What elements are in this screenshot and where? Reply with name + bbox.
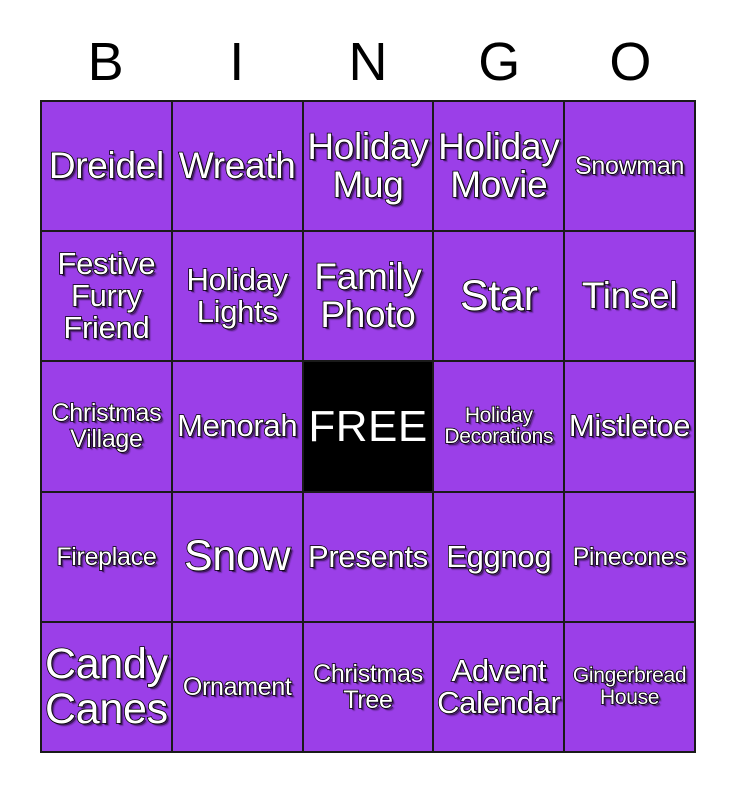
bingo-header-letter-g: G	[434, 35, 565, 89]
bingo-cell[interactable]: Holiday Lights	[173, 232, 302, 360]
bingo-cell[interactable]: Star	[434, 232, 563, 360]
bingo-cell-label: Gingerbread House	[573, 665, 686, 709]
bingo-cell-label: Advent Calendar	[437, 655, 560, 719]
bingo-cell-label: Candy Canes	[45, 642, 168, 731]
bingo-cell-label: Holiday Mug	[307, 128, 428, 205]
bingo-header-letter-i: I	[171, 35, 302, 89]
bingo-cell-label: Wreath	[179, 147, 296, 185]
bingo-cell[interactable]: Snow	[173, 493, 302, 621]
bingo-cell[interactable]: Fireplace	[42, 493, 171, 621]
bingo-cell[interactable]: Snowman	[565, 102, 694, 230]
bingo-cell[interactable]: Gingerbread House	[565, 623, 694, 751]
bingo-card: BINGO DreidelWreathHoliday MugHoliday Mo…	[0, 0, 736, 800]
bingo-header-letter-n: N	[302, 35, 433, 89]
bingo-header-row: BINGO	[40, 28, 696, 96]
bingo-cell[interactable]: Christmas Tree	[304, 623, 433, 751]
bingo-cell[interactable]: Holiday Movie	[434, 102, 563, 230]
bingo-cell-label: Snow	[184, 534, 290, 579]
bingo-cell-label: Presents	[308, 541, 428, 573]
bingo-cell[interactable]: Pinecones	[565, 493, 694, 621]
bingo-cell[interactable]: Festive Furry Friend	[42, 232, 171, 360]
bingo-cell[interactable]: Candy Canes	[42, 623, 171, 751]
bingo-cell-label: Star	[460, 274, 538, 319]
bingo-cell-label: Snowman	[575, 153, 684, 179]
bingo-cell[interactable]: Presents	[304, 493, 433, 621]
bingo-free-space[interactable]: FREE	[304, 362, 433, 490]
bingo-cell[interactable]: Dreidel	[42, 102, 171, 230]
bingo-header-letter-o: O	[565, 35, 696, 89]
bingo-cell-label: Dreidel	[49, 147, 164, 185]
bingo-cell[interactable]: Eggnog	[434, 493, 563, 621]
bingo-cell-label: Holiday Movie	[438, 128, 559, 205]
bingo-cell[interactable]: Christmas Village	[42, 362, 171, 490]
bingo-header-letter-b: B	[40, 35, 171, 89]
bingo-cell-label: Christmas Village	[51, 400, 161, 452]
bingo-grid: DreidelWreathHoliday MugHoliday MovieSno…	[40, 100, 696, 753]
bingo-cell[interactable]: Tinsel	[565, 232, 694, 360]
bingo-cell-label: FREE	[308, 404, 427, 450]
bingo-cell[interactable]: Menorah	[173, 362, 302, 490]
bingo-cell[interactable]: Ornament	[173, 623, 302, 751]
bingo-cell-label: Festive Furry Friend	[57, 248, 155, 345]
bingo-cell-label: Mistletoe	[569, 410, 690, 442]
bingo-cell[interactable]: Family Photo	[304, 232, 433, 360]
bingo-cell[interactable]: Wreath	[173, 102, 302, 230]
bingo-cell-label: Fireplace	[56, 544, 156, 570]
bingo-cell-label: Pinecones	[573, 544, 687, 570]
bingo-cell[interactable]: Holiday Decorations	[434, 362, 563, 490]
bingo-cell-label: Family Photo	[314, 258, 421, 335]
bingo-cell[interactable]: Holiday Mug	[304, 102, 433, 230]
bingo-cell[interactable]: Mistletoe	[565, 362, 694, 490]
bingo-cell-label: Menorah	[177, 410, 297, 442]
bingo-cell-label: Tinsel	[582, 277, 678, 315]
bingo-cell-label: Ornament	[183, 674, 292, 700]
bingo-cell-label: Holiday Decorations	[444, 405, 553, 449]
bingo-cell[interactable]: Advent Calendar	[434, 623, 563, 751]
bingo-cell-label: Holiday Lights	[187, 264, 288, 328]
bingo-cell-label: Christmas Tree	[313, 661, 423, 713]
bingo-cell-label: Eggnog	[446, 541, 551, 573]
